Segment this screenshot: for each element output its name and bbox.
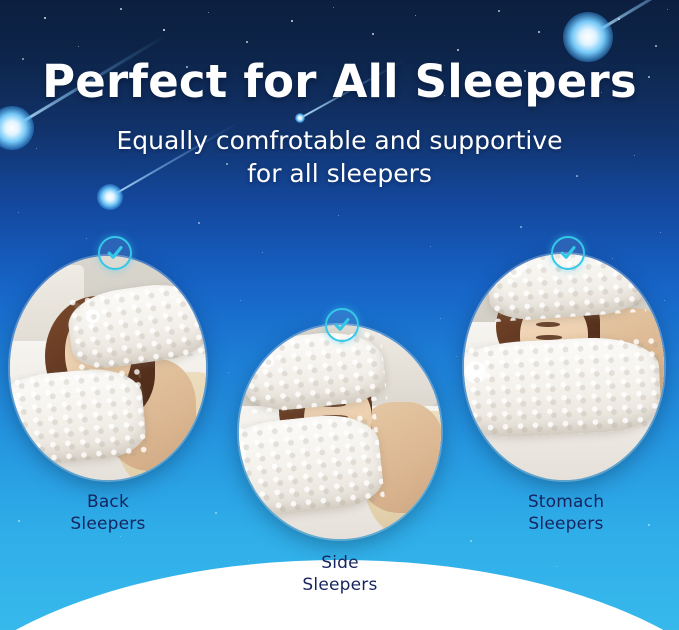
scene-back-sleeper bbox=[10, 256, 206, 480]
memory-foam-pillow-top bbox=[240, 326, 388, 413]
memory-foam-pillow bbox=[464, 334, 662, 440]
check-badge-back bbox=[98, 236, 132, 270]
photo-back-sleeper bbox=[10, 256, 206, 480]
caption-stomach-sleepers: Stomach Sleepers bbox=[484, 491, 648, 536]
scene-stomach-sleeper bbox=[464, 254, 664, 480]
memory-foam-pillow bbox=[10, 366, 147, 469]
subtitle-line-1: Equally comfrotable and supportive bbox=[0, 124, 679, 157]
caption-line-1: Stomach bbox=[484, 491, 648, 513]
caption-back-sleepers: Back Sleepers bbox=[28, 491, 188, 536]
caption-side-sleepers: Side Sleepers bbox=[260, 552, 420, 597]
check-icon bbox=[106, 244, 124, 262]
check-icon bbox=[559, 244, 577, 262]
photo-stomach-sleeper bbox=[464, 254, 664, 480]
check-icon bbox=[333, 316, 351, 334]
page-subtitle: Equally comfrotable and supportive for a… bbox=[0, 124, 679, 190]
caption-line-2: Sleepers bbox=[28, 513, 188, 535]
pillow-sleepers-poster: Perfect for All Sleepers Equally comfrot… bbox=[0, 0, 679, 630]
check-badge-side bbox=[325, 308, 359, 342]
caption-line-1: Side bbox=[260, 552, 420, 574]
photo-side-sleeper bbox=[239, 325, 441, 539]
memory-foam-pillow bbox=[239, 410, 385, 522]
subtitle-line-2: for all sleepers bbox=[0, 157, 679, 190]
scene-side-sleeper bbox=[239, 325, 441, 539]
page-title: Perfect for All Sleepers bbox=[0, 58, 679, 105]
caption-line-2: Sleepers bbox=[484, 513, 648, 535]
caption-line-2: Sleepers bbox=[260, 574, 420, 596]
caption-line-1: Back bbox=[28, 491, 188, 513]
check-badge-stomach bbox=[551, 236, 585, 270]
